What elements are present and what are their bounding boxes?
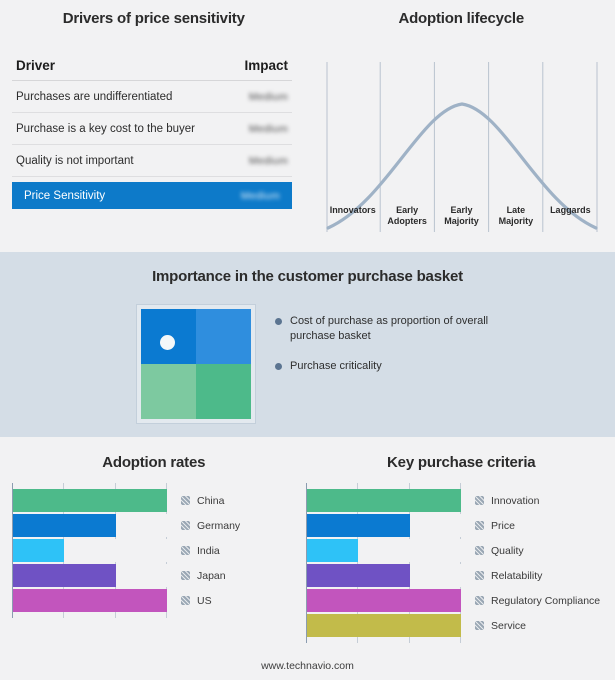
hatched-square-icon [181, 546, 190, 555]
legend-item-service: Service [475, 614, 600, 637]
legend-label: US [197, 595, 212, 607]
key-purchase-criteria-plot-area [306, 483, 461, 643]
lifecycle-panel-title: Adoption lifecycle [308, 10, 615, 27]
drivers-panel-title: Drivers of price sensitivity [0, 10, 308, 27]
hatched-square-icon [475, 571, 484, 580]
lifecycle-stage-labels: Innovators Early Adopters Early Majority… [326, 205, 598, 226]
bar-row-quality [307, 539, 461, 562]
legend-label: China [197, 495, 224, 507]
lifecycle-stage-laggards: Laggards [543, 205, 597, 226]
stage-line-1: Innovators [326, 205, 380, 216]
position-dot-icon [160, 335, 175, 350]
purchase-basket-title: Importance in the customer purchase bask… [0, 268, 615, 285]
legend-label: Japan [197, 570, 226, 582]
bar-row-regulatory-compliance [307, 589, 461, 612]
stage-line-1: Late [489, 205, 543, 216]
bar-row-japan [13, 564, 167, 587]
hatched-square-icon [475, 496, 484, 505]
legend-label: Regulatory Compliance [491, 595, 600, 607]
drivers-panel: Drivers of price sensitivity Driver Impa… [0, 0, 308, 252]
table-row: Quality is not important Medium [12, 145, 292, 177]
legend-label: Price [491, 520, 515, 532]
bar-row-india [13, 539, 167, 562]
lifecycle-stage-early-adopters: Early Adopters [380, 205, 434, 226]
column-header-impact: Impact [244, 58, 288, 73]
bar-row-price [307, 514, 461, 537]
hatched-square-icon [475, 596, 484, 605]
drivers-table-header: Driver Impact [12, 58, 292, 81]
hatched-square-icon [475, 546, 484, 555]
legend-label: Service [491, 620, 526, 632]
table-row: Purchase is a key cost to the buyer Medi… [12, 113, 292, 145]
stage-line-1: Early [434, 205, 488, 216]
legend-label: Innovation [491, 495, 539, 507]
stage-line-1: Laggards [543, 205, 597, 216]
impact-value: Medium [249, 155, 288, 167]
legend-item-us: US [181, 589, 240, 612]
bar-row-service [307, 614, 461, 637]
driver-label: Quality is not important [16, 155, 134, 167]
adoption-rates-chart: China Germany India Japan [12, 483, 240, 618]
lifecycle-stage-early-majority: Early Majority [434, 205, 488, 226]
bar [13, 539, 64, 562]
list-item: Purchase criticality [275, 359, 575, 374]
legend-item-relatability: Relatability [475, 564, 600, 587]
legend-item-quality: Quality [475, 539, 600, 562]
driver-label: Purchases are undifferentiated [16, 91, 172, 103]
hatched-square-icon [181, 571, 190, 580]
bar-row-relatability [307, 564, 461, 587]
hatched-square-icon [181, 521, 190, 530]
bar [307, 564, 410, 587]
lifecycle-stage-late-majority: Late Majority [489, 205, 543, 226]
legend-label: Quality [491, 545, 524, 557]
adoption-rates-legend: China Germany India Japan [181, 483, 240, 618]
impact-value: Medium [241, 190, 280, 202]
lifecycle-panel: Adoption lifecycle Innovators [308, 0, 615, 252]
adoption-rates-plot-area [12, 483, 167, 618]
key-purchase-criteria-title: Key purchase criteria [308, 454, 615, 471]
lifecycle-stage-innovators: Innovators [326, 205, 380, 226]
stage-line-1: Early [380, 205, 434, 216]
column-header-driver: Driver [16, 58, 55, 73]
top-section: Drivers of price sensitivity Driver Impa… [0, 0, 615, 252]
quadrant-cell-bottom-right [196, 364, 251, 419]
bar [307, 589, 461, 612]
bar-row-innovation [307, 489, 461, 512]
bullet-dot-icon [275, 363, 282, 370]
purchase-basket-legend: Cost of purchase as proportion of overal… [275, 314, 575, 390]
adoption-rates-panel: Adoption rates [0, 437, 308, 680]
drivers-table: Driver Impact Purchases are undifferenti… [12, 58, 292, 209]
hatched-square-icon [181, 496, 190, 505]
legend-item-price: Price [475, 514, 600, 537]
price-sensitivity-highlight-row: Price Sensitivity Medium [12, 182, 292, 209]
legend-item-india: India [181, 539, 240, 562]
impact-value: Medium [249, 91, 288, 103]
hatched-square-icon [475, 621, 484, 630]
hatched-square-icon [181, 596, 190, 605]
footer-url[interactable]: www.technavio.com [0, 660, 615, 672]
bar [13, 564, 116, 587]
key-purchase-criteria-legend: Innovation Price Quality Relatability Re… [475, 483, 600, 643]
quadrant-cell-bottom-left [141, 364, 196, 419]
legend-item-innovation: Innovation [475, 489, 600, 512]
quadrant-cell-top-right [196, 309, 251, 364]
list-item: Cost of purchase as proportion of overal… [275, 314, 575, 343]
bar [13, 489, 167, 512]
driver-label: Purchase is a key cost to the buyer [16, 123, 195, 135]
bar-row-china [13, 489, 167, 512]
infographic-root: Drivers of price sensitivity Driver Impa… [0, 0, 615, 680]
table-row: Purchases are undifferentiated Medium [12, 81, 292, 113]
impact-value: Medium [249, 123, 288, 135]
legend-label: India [197, 545, 220, 557]
key-purchase-criteria-chart: Innovation Price Quality Relatability Re… [306, 483, 600, 643]
bar-row-us [13, 589, 167, 612]
bottom-section: Adoption rates [0, 437, 615, 680]
quadrant-matrix [141, 309, 251, 419]
driver-label: Price Sensitivity [24, 190, 105, 202]
bar [307, 489, 461, 512]
bar [13, 514, 116, 537]
legend-item-germany: Germany [181, 514, 240, 537]
bar [13, 589, 167, 612]
bar [307, 514, 410, 537]
legend-item-regulatory-compliance: Regulatory Compliance [475, 589, 600, 612]
adoption-rates-title: Adoption rates [0, 454, 308, 471]
legend-item-japan: Japan [181, 564, 240, 587]
legend-item-china: China [181, 489, 240, 512]
bar-row-germany [13, 514, 167, 537]
hatched-square-icon [475, 521, 484, 530]
legend-label: Cost of purchase as proportion of overal… [290, 314, 505, 343]
stage-line-2: Majority [434, 216, 488, 227]
stage-line-2: Adopters [380, 216, 434, 227]
stage-line-2: Majority [489, 216, 543, 227]
bullet-dot-icon [275, 318, 282, 325]
purchase-basket-section: Importance in the customer purchase bask… [0, 252, 615, 437]
legend-label: Purchase criticality [290, 359, 382, 374]
legend-label: Germany [197, 520, 240, 532]
bar [307, 614, 461, 637]
bar [307, 539, 358, 562]
quadrant-matrix-frame [137, 305, 255, 423]
legend-label: Relatability [491, 570, 542, 582]
